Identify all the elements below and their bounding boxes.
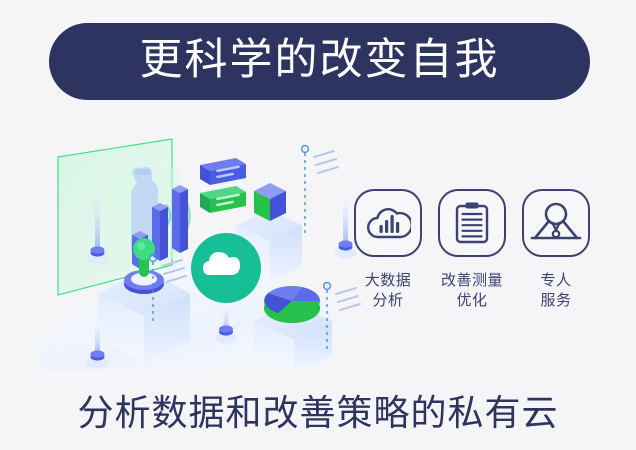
poster-canvas: 更科学的改变自我 — [0, 0, 636, 450]
tag-card-green — [200, 186, 246, 213]
hero-illustration — [40, 125, 370, 370]
clipboard-icon — [452, 201, 492, 245]
feature-badge — [522, 189, 590, 257]
feature-label: 专人服务 — [540, 271, 571, 312]
feature-label: 改善测量优化 — [441, 271, 503, 312]
feature-badge — [354, 189, 422, 257]
tagline: 分析数据和改善策略的私有云 — [0, 384, 636, 436]
feature-item-measure-optimize[interactable]: 改善测量优化 — [436, 189, 508, 334]
feature-list: 大数据分析 改善测量优化 — [352, 189, 592, 334]
feature-badge — [438, 189, 506, 257]
tag-card-blue — [200, 158, 246, 185]
header-banner: 更科学的改变自我 — [49, 23, 590, 100]
page-title: 更科学的改变自我 — [140, 39, 500, 82]
feature-item-big-data[interactable]: 大数据分析 — [352, 189, 424, 334]
pie-chart — [264, 286, 320, 323]
speed-lines — [314, 151, 338, 173]
feature-label: 大数据分析 — [365, 271, 412, 312]
support-agent-icon — [530, 201, 582, 245]
cube-green-blue — [254, 183, 286, 221]
cloud-bar-chart-icon — [365, 203, 411, 243]
feature-item-dedicated-service[interactable]: 专人服务 — [520, 189, 592, 334]
dashed-marker-line — [302, 146, 309, 235]
